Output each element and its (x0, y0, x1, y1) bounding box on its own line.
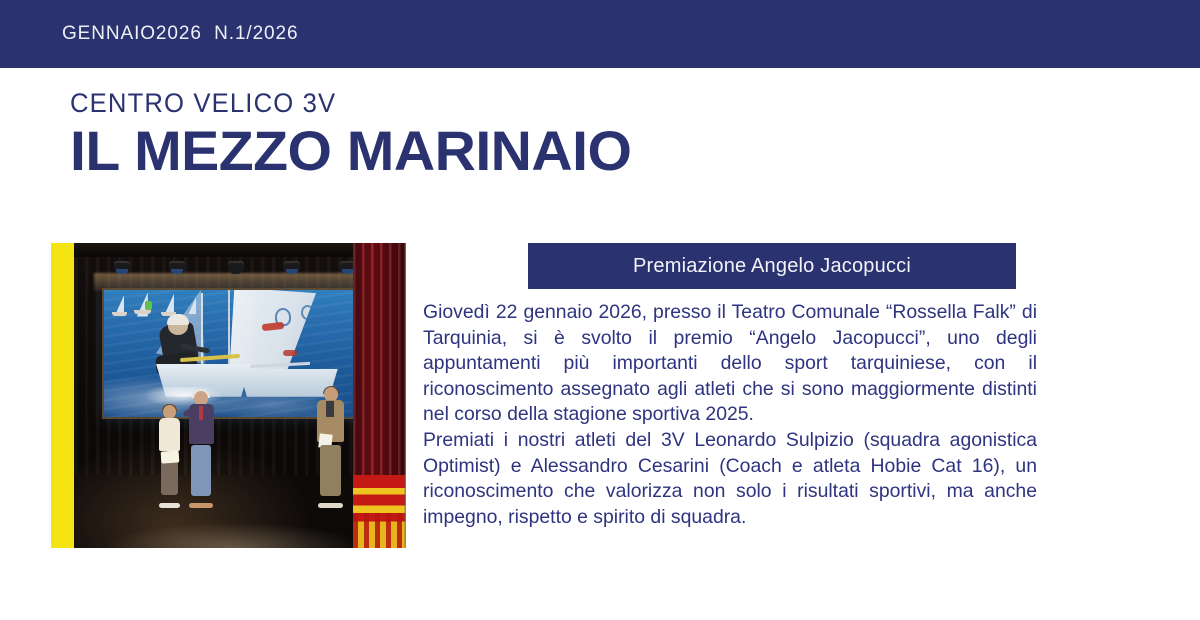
award-certificate (161, 450, 180, 463)
issue-header-bar: GENNAIO2026 N.1/2026 (0, 0, 1200, 68)
stage-photograph (74, 243, 406, 548)
issue-date-and-number: GENNAIO2026 N.1/2026 (62, 23, 298, 45)
masthead: CENTRO VELICO 3V IL MEZZO MARINAIO (70, 88, 620, 182)
article-paragraph: Giovedì 22 gennaio 2026, presso il Teatr… (423, 300, 1037, 428)
stage-light-icon (282, 258, 302, 275)
photo-accent-band (51, 243, 74, 548)
article-body: Giovedì 22 gennaio 2026, presso il Teatr… (423, 300, 1037, 530)
stage-light-icon (167, 258, 187, 275)
host-figure (316, 386, 346, 505)
background-hull (134, 310, 151, 314)
stage-light-icon (112, 258, 132, 275)
masthead-title: IL MEZZO MARINAIO (70, 120, 631, 182)
sailor-cap-icon (167, 314, 189, 325)
background-hull (112, 312, 127, 316)
awarded-athlete-figure (157, 405, 183, 506)
curtain-edge-shadow (404, 243, 406, 548)
background-crew-jacket (145, 301, 152, 310)
curtain-striped-trim (353, 475, 406, 548)
article-paragraph: Premiati i nostri atleti del 3V Leonardo… (423, 428, 1037, 530)
masthead-kicker: CENTRO VELICO 3V (70, 88, 593, 118)
second-boat-fitting (283, 350, 297, 356)
stage-light-icon (226, 258, 246, 275)
presenter-figure (187, 389, 217, 505)
article-photo-block (51, 243, 406, 548)
stage-lights-row (101, 258, 380, 280)
newsletter-page: GENNAIO2026 N.1/2026 CENTRO VELICO 3V IL… (0, 0, 1200, 620)
article-headline-banner: Premiazione Angelo Jacopucci (528, 243, 1016, 289)
stage-side-curtain (353, 243, 406, 548)
